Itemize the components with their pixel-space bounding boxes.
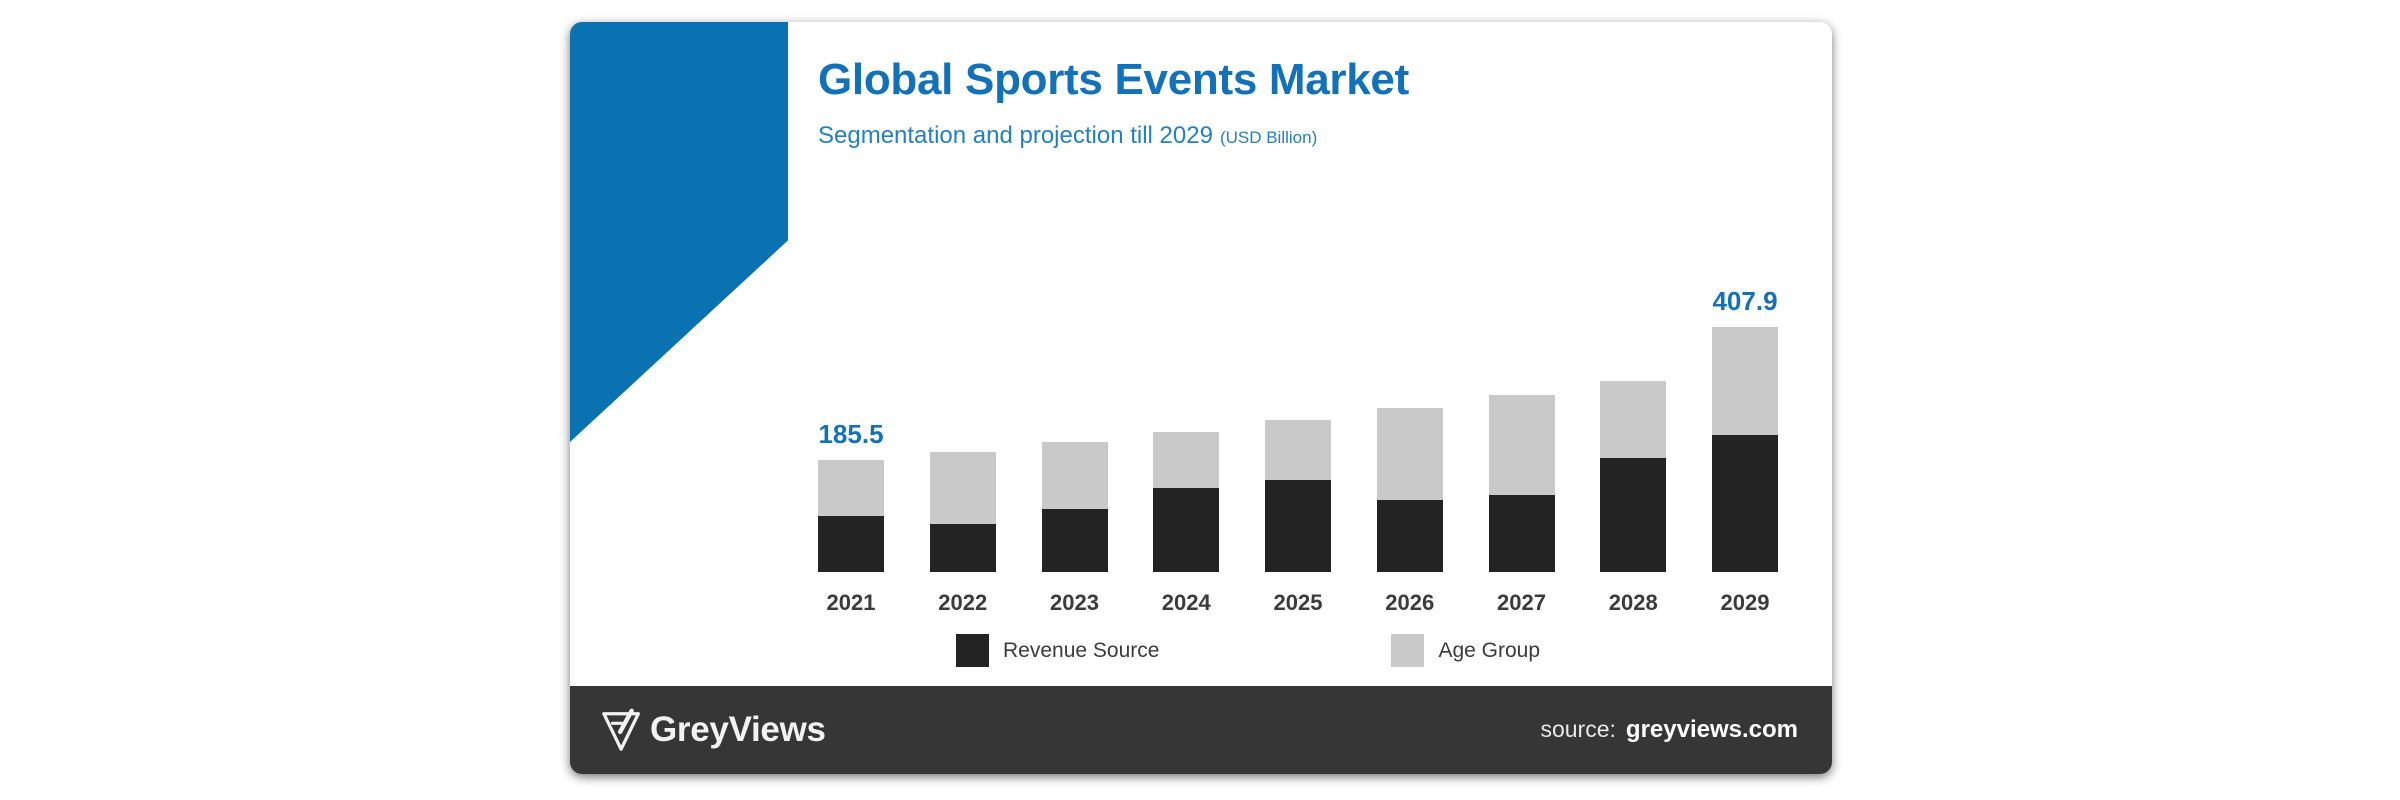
- bar-segment-revenue-source-2022: [930, 524, 996, 572]
- bar-chart-plot-area: 185.5407.9 20212022202320242025202620272…: [818, 142, 1778, 572]
- bar-segment-age-group-2022: [930, 452, 996, 524]
- bar-segment-age-group-2024: [1153, 432, 1219, 488]
- chart-subtitle-row: Segmentation and projection till 2029 (U…: [818, 122, 1409, 150]
- stacked-bar-2025: [1265, 420, 1331, 572]
- brand-name: GreyViews: [650, 710, 826, 750]
- stacked-bar-2024: [1153, 432, 1219, 572]
- legend-swatch-age-group: [1391, 634, 1424, 667]
- stacked-bar-2028: [1600, 381, 1666, 572]
- source-domain[interactable]: greyviews.com: [1626, 716, 1798, 744]
- x-tick-2028: 2028: [1600, 590, 1666, 616]
- bar-column-2022: [930, 452, 996, 572]
- x-tick-2021: 2021: [818, 590, 884, 616]
- bar-segment-age-group-2029: [1712, 327, 1778, 435]
- stacked-bar-2021: [818, 460, 884, 572]
- x-tick-2027: 2027: [1489, 590, 1555, 616]
- stacked-bar-2029: [1712, 327, 1778, 572]
- bar-segment-age-group-2021: [818, 460, 884, 516]
- page-title: Global Sports Events Market: [818, 56, 1409, 104]
- bar-segment-revenue-source-2027: [1489, 495, 1555, 572]
- x-tick-2024: 2024: [1153, 590, 1219, 616]
- stacked-bar-2023: [1042, 442, 1108, 572]
- infographic-card: CAGR 2022-2029 8.0% Global Sports Events…: [570, 22, 1832, 774]
- bar-value-label-2029: 407.9: [1712, 286, 1777, 317]
- stacked-bar-2022: [930, 452, 996, 572]
- bar-segment-revenue-source-2029: [1712, 435, 1778, 572]
- legend-item-revenue-source: Revenue Source: [956, 634, 1159, 667]
- stacked-bar-2027: [1489, 395, 1555, 572]
- card-footer: GreyViews source: greyviews.com: [570, 686, 1832, 774]
- bar-segment-age-group-2026: [1377, 408, 1443, 500]
- bar-column-2029: 407.9: [1712, 327, 1778, 572]
- bar-column-2028: [1600, 381, 1666, 572]
- bar-value-label-2021: 185.5: [818, 419, 883, 450]
- bar-segment-revenue-source-2025: [1265, 480, 1331, 572]
- bar-column-2025: [1265, 420, 1331, 572]
- bar-segment-revenue-source-2021: [818, 516, 884, 572]
- source-label: source:: [1540, 716, 1615, 743]
- chart-legend: Revenue Source Age Group: [818, 634, 1778, 667]
- bar-column-2021: 185.5: [818, 460, 884, 572]
- legend-label-age-group: Age Group: [1438, 639, 1540, 663]
- bar-column-2026: [1377, 408, 1443, 572]
- stacked-bar-2026: [1377, 408, 1443, 572]
- x-tick-2025: 2025: [1265, 590, 1331, 616]
- source-block: source: greyviews.com: [1540, 716, 1798, 744]
- bar-segment-revenue-source-2023: [1042, 509, 1108, 572]
- bar-segment-age-group-2023: [1042, 442, 1108, 509]
- x-tick-2026: 2026: [1377, 590, 1443, 616]
- bar-segment-revenue-source-2028: [1600, 458, 1666, 572]
- cagr-ribbon: [570, 22, 788, 442]
- chart-heading: Global Sports Events Market Segmentation…: [818, 56, 1409, 150]
- bar-column-2024: [1153, 432, 1219, 572]
- x-tick-2029: 2029: [1712, 590, 1778, 616]
- chart-unit-label: (USD Billion): [1220, 128, 1317, 148]
- chart-subtitle: Segmentation and projection till 2029: [818, 122, 1213, 150]
- bar-segment-revenue-source-2026: [1377, 500, 1443, 572]
- legend-label-revenue-source: Revenue Source: [1003, 639, 1159, 663]
- bar-segment-revenue-source-2024: [1153, 488, 1219, 572]
- x-tick-2022: 2022: [930, 590, 996, 616]
- screenshot-root: CAGR 2022-2029 8.0% Global Sports Events…: [0, 0, 2400, 800]
- bar-column-2027: [1489, 395, 1555, 572]
- legend-item-age-group: Age Group: [1391, 634, 1540, 667]
- bar-segment-age-group-2028: [1600, 381, 1666, 458]
- bar-column-2023: [1042, 442, 1108, 572]
- x-tick-2023: 2023: [1042, 590, 1108, 616]
- legend-swatch-revenue-source: [956, 634, 989, 667]
- greyviews-logo-icon: [600, 707, 646, 753]
- bar-series-container: 185.5407.9: [818, 194, 1778, 572]
- bar-segment-age-group-2027: [1489, 395, 1555, 495]
- brand-block: GreyViews: [600, 707, 826, 753]
- x-axis-tick-labels: 202120222023202420252026202720282029: [818, 590, 1778, 616]
- bar-segment-age-group-2025: [1265, 420, 1331, 480]
